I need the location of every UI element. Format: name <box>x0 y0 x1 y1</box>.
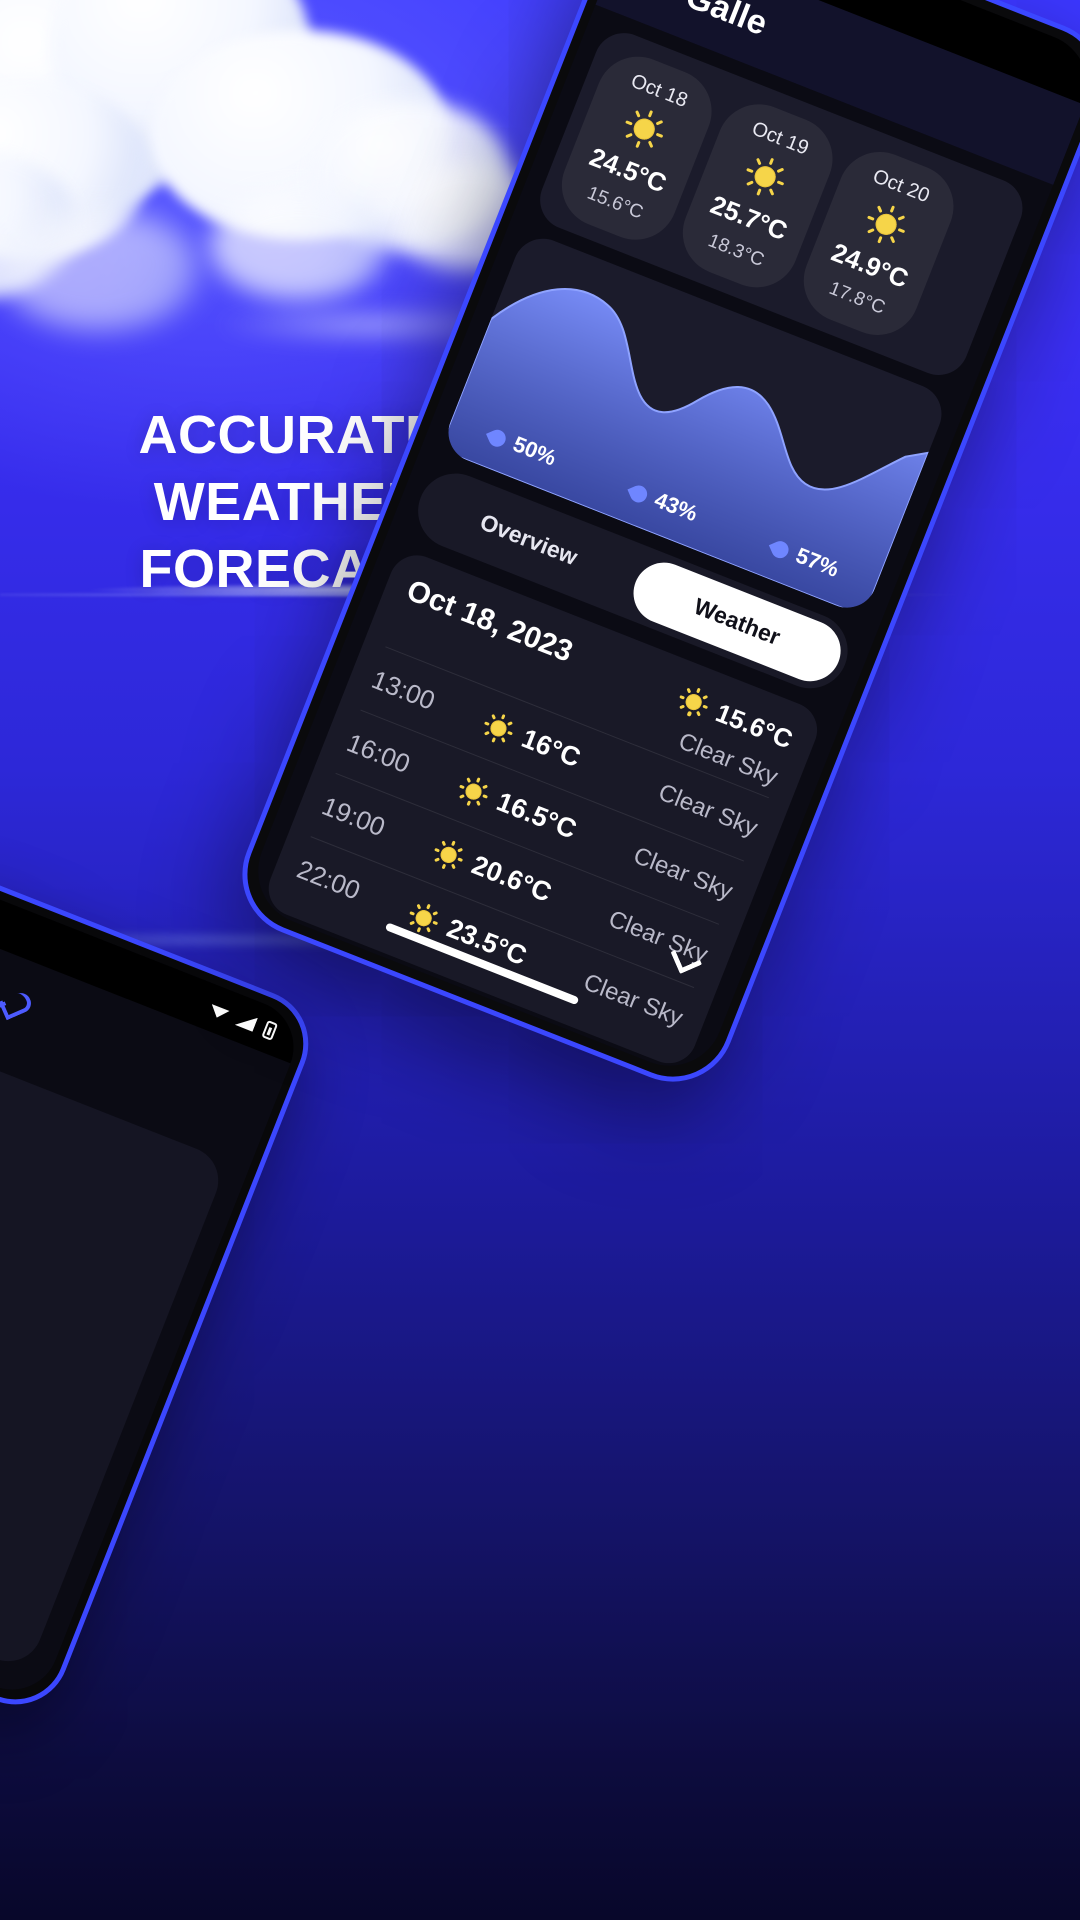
sun-ray <box>756 158 762 166</box>
sun-ray <box>466 777 471 783</box>
water-drop-icon <box>627 479 651 506</box>
sun-icon <box>618 103 670 155</box>
sun-core <box>631 115 658 142</box>
sun-core <box>463 781 484 802</box>
sun-ray <box>442 863 447 869</box>
sun-ray <box>647 110 653 118</box>
sun-ray <box>867 228 875 234</box>
sun-ray <box>451 840 456 846</box>
sun-ray <box>459 794 465 799</box>
sun-ray <box>426 903 431 909</box>
sun-ray <box>898 228 906 234</box>
sun-core <box>413 907 434 928</box>
sun-ray <box>507 720 513 725</box>
sun-ray <box>417 926 422 932</box>
sun-ray <box>467 800 472 806</box>
sun-ray <box>776 167 784 173</box>
sun-ray <box>769 188 775 196</box>
sun-ray <box>877 205 883 213</box>
sun-ray <box>459 784 465 789</box>
sun-core <box>488 718 509 739</box>
sun-ray <box>890 236 896 244</box>
sun-ray <box>679 705 685 710</box>
sun-ray <box>768 158 774 166</box>
sun-ray <box>451 863 456 869</box>
sun-ray <box>625 133 633 139</box>
battery-icon <box>261 1020 278 1041</box>
sun-ray <box>635 110 641 118</box>
sun-ray <box>491 713 496 719</box>
sun-ray <box>635 141 641 149</box>
sun-ray <box>441 840 446 846</box>
sun-ray <box>687 711 692 717</box>
sun-ray <box>507 730 513 735</box>
sun-ray <box>426 926 431 932</box>
sun-ray <box>501 713 506 719</box>
sun-ray <box>482 793 488 798</box>
sun-ray <box>746 180 754 186</box>
sun-ray <box>746 168 754 174</box>
cloud-puff <box>210 190 390 300</box>
sun-ray <box>703 704 709 709</box>
sun-ray <box>484 721 490 726</box>
sun-ray <box>416 903 421 909</box>
sun-icon <box>674 683 713 722</box>
sun-ray <box>409 920 415 925</box>
sun-icon <box>860 198 912 250</box>
sun-ray <box>434 857 440 862</box>
sun-ray <box>867 215 875 221</box>
sun-ray <box>702 695 708 700</box>
sun-core <box>752 163 779 190</box>
sun-ray <box>625 120 633 126</box>
sun-core <box>873 211 900 238</box>
sun-ray <box>877 236 883 244</box>
forecast-hour-temp: 16.5°C <box>492 786 580 845</box>
sun-ray <box>656 132 664 138</box>
sun-ray <box>897 215 905 221</box>
water-drop-icon <box>486 423 510 450</box>
water-drop-icon <box>769 535 793 562</box>
sun-ray <box>433 920 439 925</box>
sun-core <box>438 844 459 865</box>
forecast-hour-temp: 16°C <box>517 723 584 774</box>
sun-ray <box>457 857 463 862</box>
heart-icon[interactable] <box>0 982 35 1030</box>
forecast-hour-temp: 20.6°C <box>467 850 555 909</box>
sun-ray <box>482 784 488 789</box>
page-title: Galle <box>680 0 773 44</box>
sun-ray <box>457 847 463 852</box>
sun-ray <box>655 120 663 126</box>
wifi-icon <box>208 1000 231 1021</box>
sun-core <box>684 692 705 713</box>
forecast-hour-description: Clear Sky <box>580 968 687 1032</box>
sun-ray <box>476 800 481 806</box>
sun-icon <box>739 151 791 203</box>
sun-ray <box>409 911 415 916</box>
sun-ray <box>679 695 685 700</box>
sun-ray <box>434 847 440 852</box>
sun-ray <box>777 180 785 186</box>
sun-ray <box>889 205 895 213</box>
sun-ray <box>696 688 701 694</box>
sun-ray <box>501 736 506 742</box>
sun-ray <box>686 688 691 694</box>
sun-ray <box>476 777 481 783</box>
sun-ray <box>756 188 762 196</box>
sun-ray <box>432 910 438 915</box>
sun-ray <box>484 730 490 735</box>
sun-ray <box>696 711 701 717</box>
sun-ray <box>648 140 654 148</box>
signal-icon <box>235 1011 258 1032</box>
sun-ray <box>492 737 497 743</box>
